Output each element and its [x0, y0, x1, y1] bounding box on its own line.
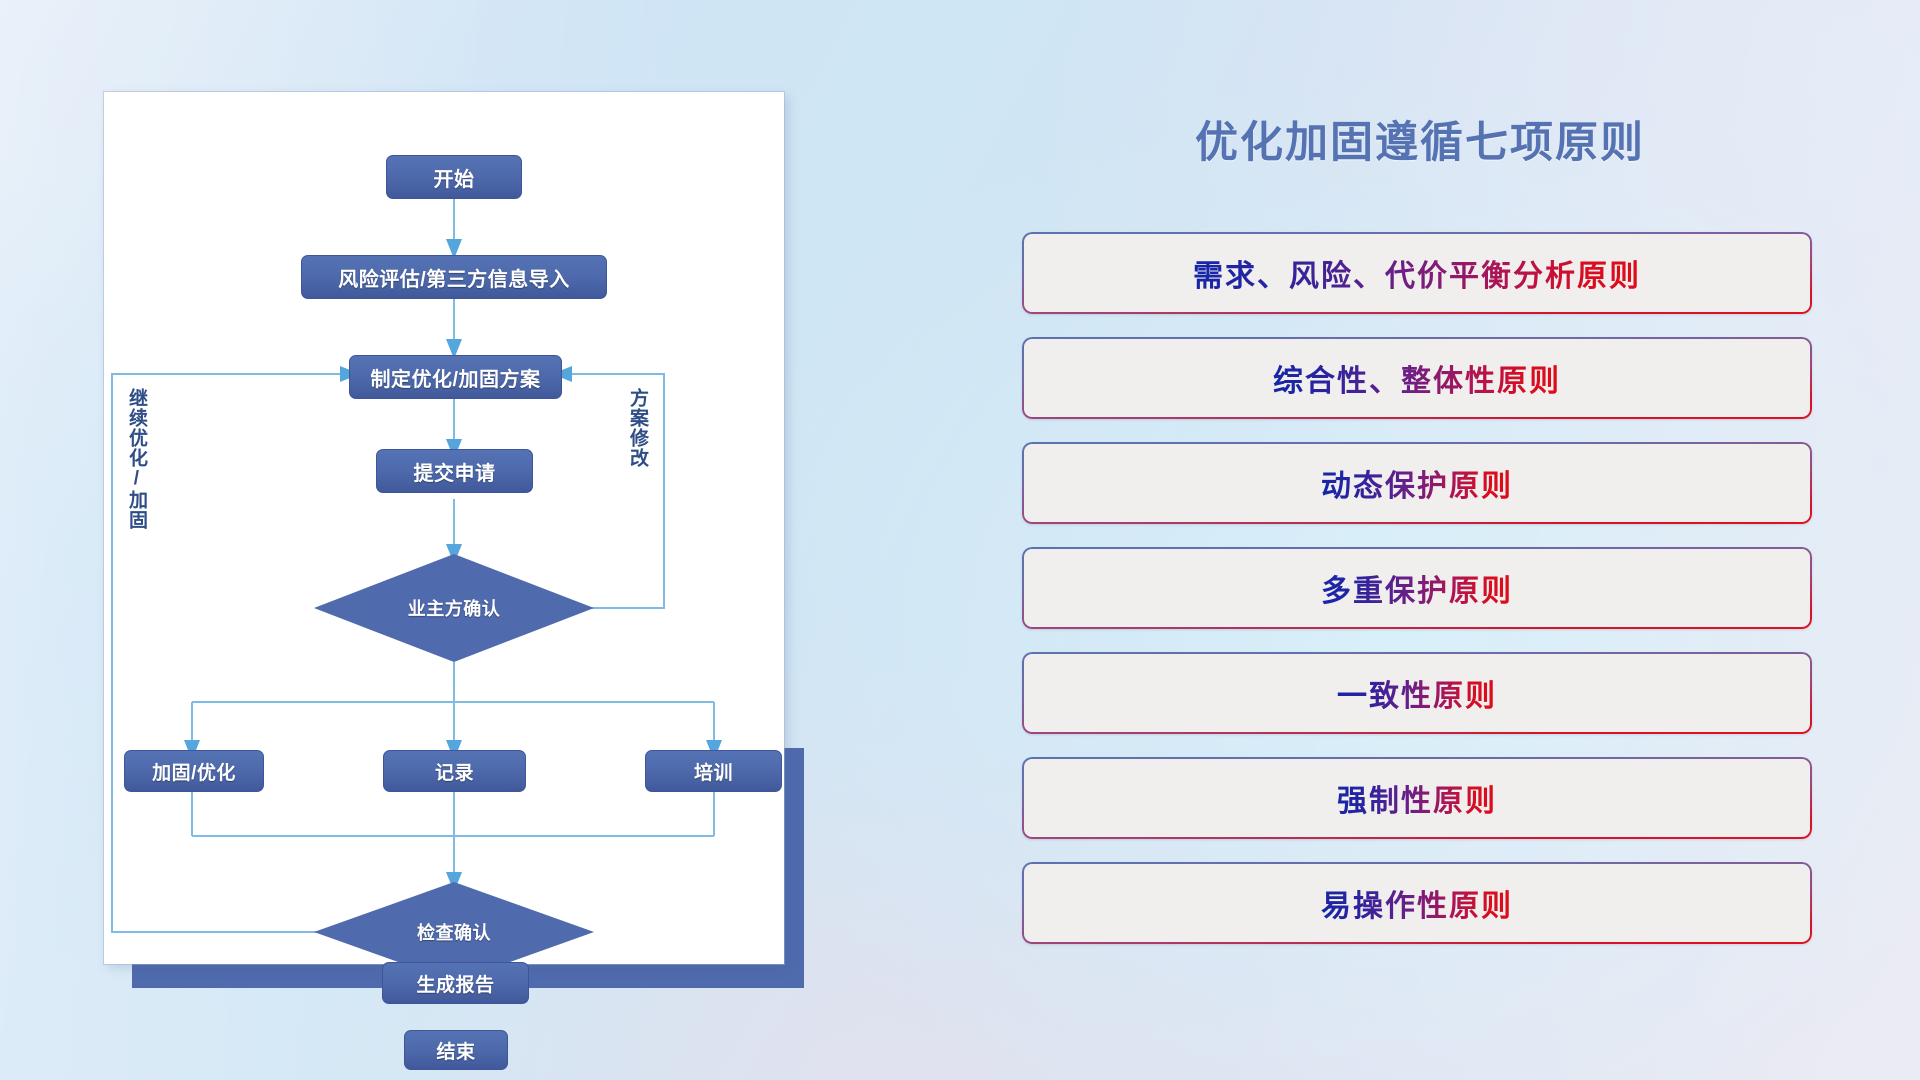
principle-card-label: 综合性、整体性原则 — [1273, 356, 1561, 400]
principle-card[interactable]: 动态保护原则 — [1022, 442, 1812, 524]
principles-list: 需求、风险、代价平衡分析原则 综合性、整体性原则 动态保护原则 多重保护原则 一… — [1022, 232, 1812, 967]
flow-node-owner-confirm-label: 业主方确认 — [408, 595, 501, 621]
principle-card[interactable]: 需求、风险、代价平衡分析原则 — [1022, 232, 1812, 314]
flow-node-start[interactable]: 开始 — [386, 155, 522, 199]
flow-node-training[interactable]: 培训 — [645, 750, 782, 792]
flow-node-submit-application[interactable]: 提交申请 — [376, 449, 533, 493]
flow-node-risk-assessment[interactable]: 风险评估/第三方信息导入 — [301, 255, 607, 299]
flow-node-end[interactable]: 结束 — [404, 1030, 508, 1070]
principle-card-label: 需求、风险、代价平衡分析原则 — [1193, 251, 1641, 295]
flowchart-card: 开始 风险评估/第三方信息导入 制定优化/加固方案 提交申请 业主方确认 加固/… — [104, 92, 784, 964]
principle-card-label: 易操作性原则 — [1321, 881, 1513, 925]
principle-card-label: 多重保护原则 — [1321, 566, 1513, 610]
principle-card-label: 一致性原则 — [1337, 671, 1497, 715]
flow-node-reinforce-optimize[interactable]: 加固/优化 — [124, 750, 264, 792]
flow-node-generate-report[interactable]: 生成报告 — [382, 962, 529, 1004]
flow-node-record[interactable]: 记录 — [383, 750, 526, 792]
flow-edge-label-right-loop: 方案修改 — [627, 388, 647, 468]
principle-card-label: 动态保护原则 — [1321, 461, 1513, 505]
principle-card[interactable]: 多重保护原则 — [1022, 547, 1812, 629]
flowchart-connectors — [104, 92, 784, 964]
flow-node-check-confirm-label: 检查确认 — [417, 919, 491, 945]
principle-card-label: 强制性原则 — [1337, 776, 1497, 820]
flow-node-owner-confirm[interactable]: 业主方确认 — [314, 554, 594, 662]
principle-card[interactable]: 综合性、整体性原则 — [1022, 337, 1812, 419]
flow-node-make-plan[interactable]: 制定优化/加固方案 — [349, 355, 562, 399]
principle-card[interactable]: 易操作性原则 — [1022, 862, 1812, 944]
flow-edge-label-left-loop: 继续优化/加固 — [126, 388, 146, 530]
right-panel-title: 优化加固遵循七项原则 — [1020, 108, 1820, 170]
principle-card[interactable]: 强制性原则 — [1022, 757, 1812, 839]
principle-card[interactable]: 一致性原则 — [1022, 652, 1812, 734]
